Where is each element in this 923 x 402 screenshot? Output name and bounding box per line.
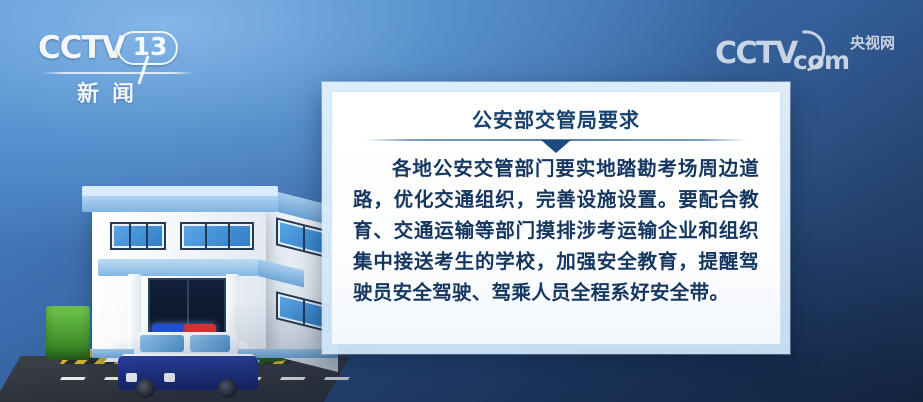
title-divider-with-triangle-icon <box>365 139 747 141</box>
info-card-body-text: 各地公安交管部门要实地踏勘考场周边道路，优化交通组织，完善设施设置。要配合教育、… <box>353 154 759 309</box>
car-headlamp-right <box>164 373 175 382</box>
car-side-window <box>190 335 230 352</box>
roof-top <box>82 186 278 196</box>
car-headlamp-left <box>126 373 137 382</box>
channel-logo: CCTV 13 新闻 <box>38 28 198 100</box>
window-upper-left <box>110 222 166 250</box>
info-card: 公安部交管局要求 各地公安交管部门要实地踏勘考场周边道路，优化交通组织，完善设施… <box>331 91 781 345</box>
hedge-left <box>46 306 90 360</box>
car-windshield <box>140 335 184 352</box>
info-card-frame: 公安部交管局要求 各地公安交管部门要实地踏勘考场周边道路，优化交通组织，完善设施… <box>322 82 790 354</box>
cctv-com-watermark: CCTV com 央视网 <box>715 30 895 78</box>
window-upper-center <box>180 222 254 250</box>
broadcast-screen: CCTV 13 新闻 CCTV com 央视网 公安部交管局要求 各地公安交管部… <box>0 0 923 402</box>
police-station-illustration <box>40 142 370 402</box>
car-wheel-rear <box>218 379 237 398</box>
channel-logo-underline <box>42 72 194 74</box>
watermark-cn-label: 央视网 <box>850 32 895 53</box>
car-wheel-front <box>136 379 155 398</box>
police-car <box>118 326 258 400</box>
channel-logo-subtitle: 新闻 <box>38 76 186 108</box>
info-card-title: 公安部交管局要求 <box>353 104 759 139</box>
channel-logo-text: CCTV <box>38 33 125 64</box>
watermark-suffix: com <box>793 46 850 75</box>
